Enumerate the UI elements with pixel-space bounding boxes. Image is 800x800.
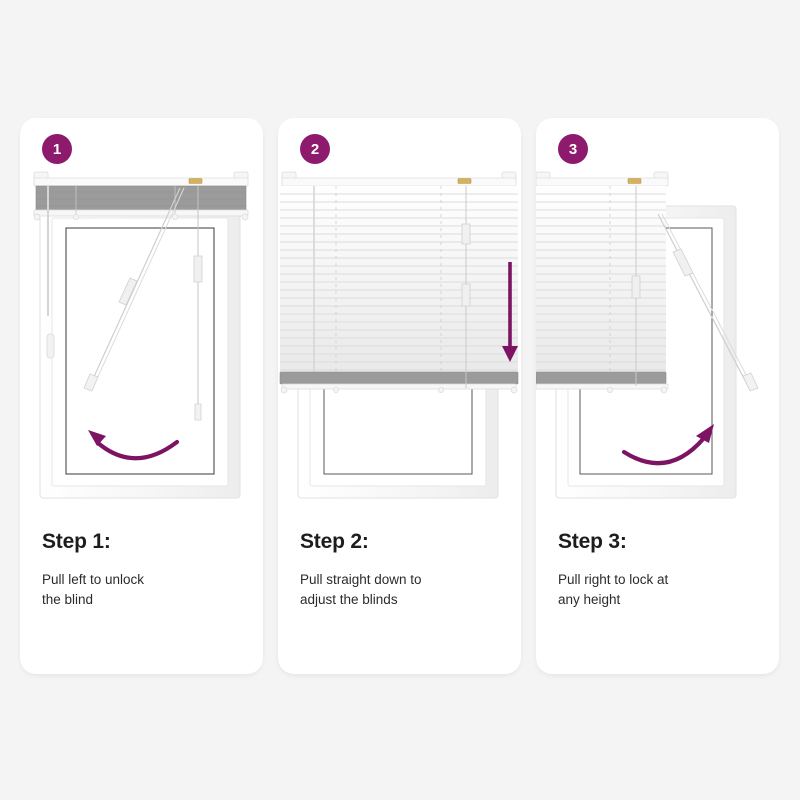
step-text-1: Step 1: Pull left to unlock the blind bbox=[42, 530, 247, 609]
step-badge-number: 1 bbox=[53, 142, 61, 157]
illustration-step-2 bbox=[278, 166, 521, 518]
step-badge-3: 3 bbox=[558, 134, 588, 164]
illustration-step-3 bbox=[536, 166, 779, 518]
step-badge-2: 2 bbox=[300, 134, 330, 164]
step-title: Step 1: bbox=[42, 530, 247, 554]
step-description: Pull straight down to adjust the blinds bbox=[300, 570, 505, 609]
step-title: Step 2: bbox=[300, 530, 505, 554]
step-description: Pull left to unlock the blind bbox=[42, 570, 247, 609]
step-badge-number: 2 bbox=[311, 142, 319, 157]
step-badge-number: 3 bbox=[569, 142, 577, 157]
steps-container: 1 bbox=[20, 118, 780, 674]
step-card-2: 2 bbox=[278, 118, 521, 674]
illustration-step-1 bbox=[20, 166, 263, 518]
step-text-3: Step 3: Pull right to lock at any height bbox=[558, 530, 763, 609]
step-description: Pull right to lock at any height bbox=[558, 570, 763, 609]
step-badge-1: 1 bbox=[42, 134, 72, 164]
step-text-2: Step 2: Pull straight down to adjust the… bbox=[300, 530, 505, 609]
instruction-diagram: 1 bbox=[0, 0, 800, 800]
step-title: Step 3: bbox=[558, 530, 763, 554]
step-card-1: 1 bbox=[20, 118, 263, 674]
step-card-3: 3 bbox=[536, 118, 779, 674]
